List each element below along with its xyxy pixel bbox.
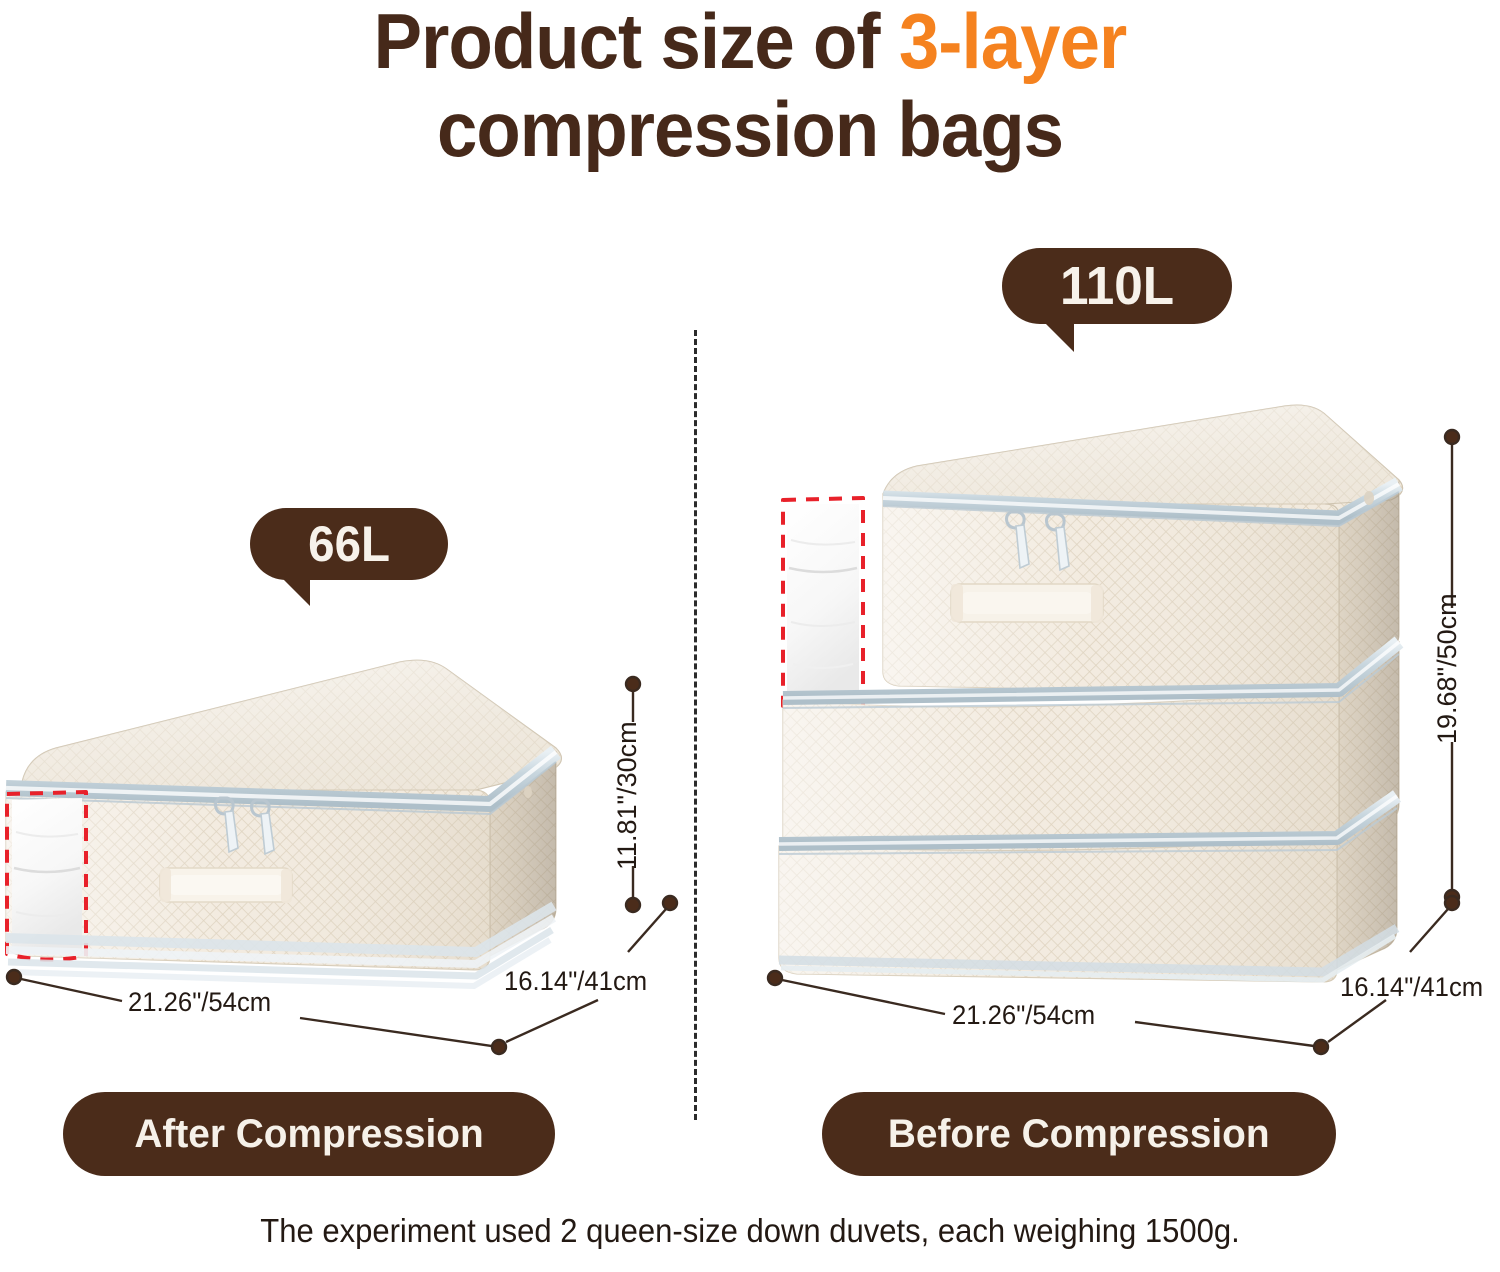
caption-pill-before-label: Before Compression <box>888 1114 1270 1154</box>
dimension-label-depth-66: 16.14"/41cm <box>504 966 647 997</box>
dimension-label-width-66: 21.26"/54cm <box>128 987 271 1018</box>
caption-pill-before-compression: Before Compression <box>822 1092 1336 1176</box>
capacity-badge-66l-label: 66L <box>308 519 390 569</box>
dimension-depth-110 <box>1328 896 1459 1042</box>
capacity-badge-110l: 110L <box>1002 248 1232 324</box>
footer-note: The experiment used 2 queen-size down du… <box>45 1212 1455 1250</box>
dimension-overlay <box>0 0 1500 1272</box>
dimension-label-width-110: 21.26"/54cm <box>952 1000 1095 1031</box>
caption-pill-after-compression: After Compression <box>63 1092 555 1176</box>
infographic-canvas: Product size of 3-layer compression bags <box>0 0 1500 1272</box>
dimension-label-depth-110: 16.14"/41cm <box>1340 972 1483 1003</box>
capacity-badge-66l: 66L <box>250 508 448 580</box>
caption-pill-after-label: After Compression <box>134 1114 483 1154</box>
dimension-label-height-110: 19.68"/50cm <box>1432 608 1463 744</box>
capacity-badge-110l-label: 110L <box>1060 259 1174 313</box>
dimension-label-height-66: 11.81"/30cm <box>612 720 643 870</box>
